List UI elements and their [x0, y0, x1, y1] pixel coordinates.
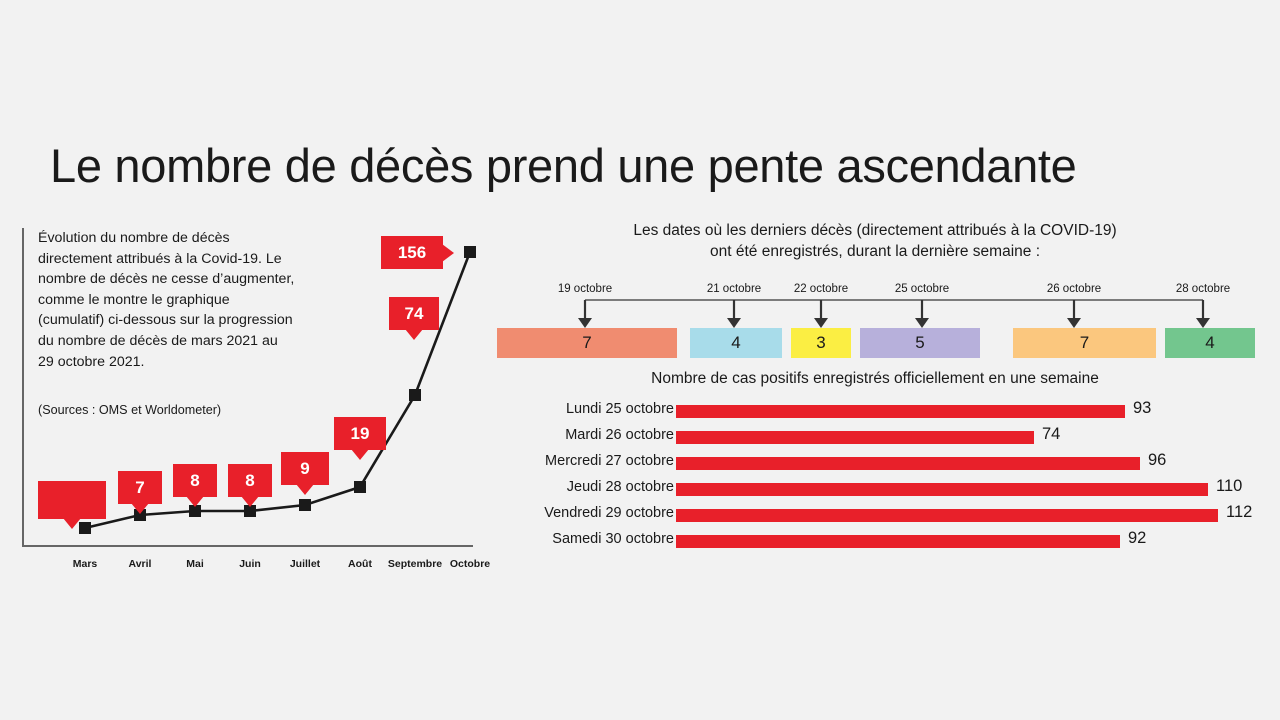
value-badge: 7: [118, 471, 162, 504]
value-badge: 74: [389, 297, 439, 330]
badge-pointer: [131, 503, 149, 514]
value-badge-text: 8: [245, 472, 254, 489]
value-badge-text: 156: [398, 244, 426, 261]
value-badge: [38, 481, 106, 519]
month-axis-label: Juin: [239, 558, 261, 570]
bar-row-value: 110: [1216, 477, 1242, 496]
badge-pointer: [63, 518, 81, 529]
deaths-evolution-chart: Évolution du nombre de décès directement…: [22, 228, 477, 568]
line-chart-marker: [409, 389, 421, 401]
bar-chart-row: Samedi 30 octobre92: [480, 530, 1270, 556]
bars-heading: Nombre de cas positifs enregistrés offic…: [480, 370, 1270, 388]
bar-fill: [676, 457, 1140, 470]
arrow-head: [1196, 318, 1210, 328]
month-axis-label: Août: [348, 558, 372, 570]
bar-row-label: Samedi 30 octobre: [552, 531, 674, 547]
arrow-head: [578, 318, 592, 328]
value-badge-text: 9: [300, 460, 309, 477]
bar-chart-row: Mardi 26 octobre74: [480, 426, 1270, 452]
date-value-box: 4: [1165, 328, 1255, 358]
bar-row-value: 96: [1148, 451, 1166, 470]
infographic-canvas: Le nombre de décès prend une pente ascen…: [0, 0, 1280, 720]
bar-row-value: 93: [1133, 399, 1151, 418]
badge-pointer: [405, 329, 423, 340]
value-badge: 156: [381, 236, 443, 269]
bar-row-label: Mercredi 27 octobre: [545, 453, 674, 469]
bar-fill: [676, 509, 1218, 522]
bar-chart-row: Lundi 25 octobre93: [480, 400, 1270, 426]
dates-heading-line2: ont été enregistrés, durant la dernière …: [480, 241, 1270, 262]
bar-chart-row: Jeudi 28 octobre110: [480, 478, 1270, 504]
line-chart-marker: [299, 499, 311, 511]
date-box-value: 7: [582, 333, 591, 353]
bar-fill: [676, 483, 1208, 496]
value-badge: 8: [228, 464, 272, 497]
bar-row-label: Mardi 26 octobre: [565, 427, 674, 443]
date-box-value: 3: [816, 333, 825, 353]
month-axis-label: Avril: [129, 558, 152, 570]
date-box-value: 7: [1080, 333, 1089, 353]
date-value-box: 3: [791, 328, 851, 358]
date-value-box: 4: [690, 328, 782, 358]
bar-row-value: 92: [1128, 529, 1146, 548]
date-box-value: 4: [1205, 333, 1214, 353]
bar-row-value: 74: [1042, 425, 1060, 444]
bar-chart-row: Vendredi 29 octobre112: [480, 504, 1270, 530]
bar-row-value: 112: [1226, 503, 1252, 522]
arrow-head: [814, 318, 828, 328]
bar-fill: [676, 535, 1120, 548]
month-axis-label: Mai: [186, 558, 204, 570]
page-title: Le nombre de décès prend une pente ascen…: [50, 138, 1240, 193]
value-badge-text: 74: [405, 305, 424, 322]
bar-fill: [676, 405, 1125, 418]
value-badge-text: 7: [135, 479, 144, 496]
badge-pointer: [241, 496, 259, 507]
value-badge: 19: [334, 417, 386, 450]
value-badge-text: 19: [351, 425, 370, 442]
line-chart-marker: [354, 481, 366, 493]
bar-row-label: Jeudi 28 octobre: [567, 479, 674, 495]
badge-pointer: [186, 496, 204, 507]
bar-fill: [676, 431, 1034, 444]
line-chart-marker: [464, 246, 476, 258]
month-axis-label: Mars: [73, 558, 98, 570]
value-badge: 8: [173, 464, 217, 497]
badge-pointer: [442, 244, 454, 262]
date-value-box: 7: [1013, 328, 1156, 358]
badge-pointer: [351, 449, 369, 460]
badge-pointer: [296, 484, 314, 495]
dates-heading: Les dates où les derniers décès (directe…: [480, 220, 1270, 262]
bar-chart-row: Mercredi 27 octobre96: [480, 452, 1270, 478]
month-axis-label: Juillet: [290, 558, 320, 570]
date-value-box: 7: [497, 328, 677, 358]
date-value-box: 5: [860, 328, 980, 358]
value-badge-text: 8: [190, 472, 199, 489]
date-box-value: 5: [915, 333, 924, 353]
arrow-head: [727, 318, 741, 328]
date-box-value: 4: [731, 333, 740, 353]
arrow-head: [915, 318, 929, 328]
arrow-head: [1067, 318, 1081, 328]
value-badge: 9: [281, 452, 329, 485]
dates-heading-line1: Les dates où les derniers décès (directe…: [480, 220, 1270, 241]
bar-row-label: Lundi 25 octobre: [566, 401, 674, 417]
bar-row-label: Vendredi 29 octobre: [544, 505, 674, 521]
right-panel: Les dates où les derniers décès (directe…: [480, 220, 1270, 570]
month-axis-label: Septembre: [388, 558, 442, 570]
